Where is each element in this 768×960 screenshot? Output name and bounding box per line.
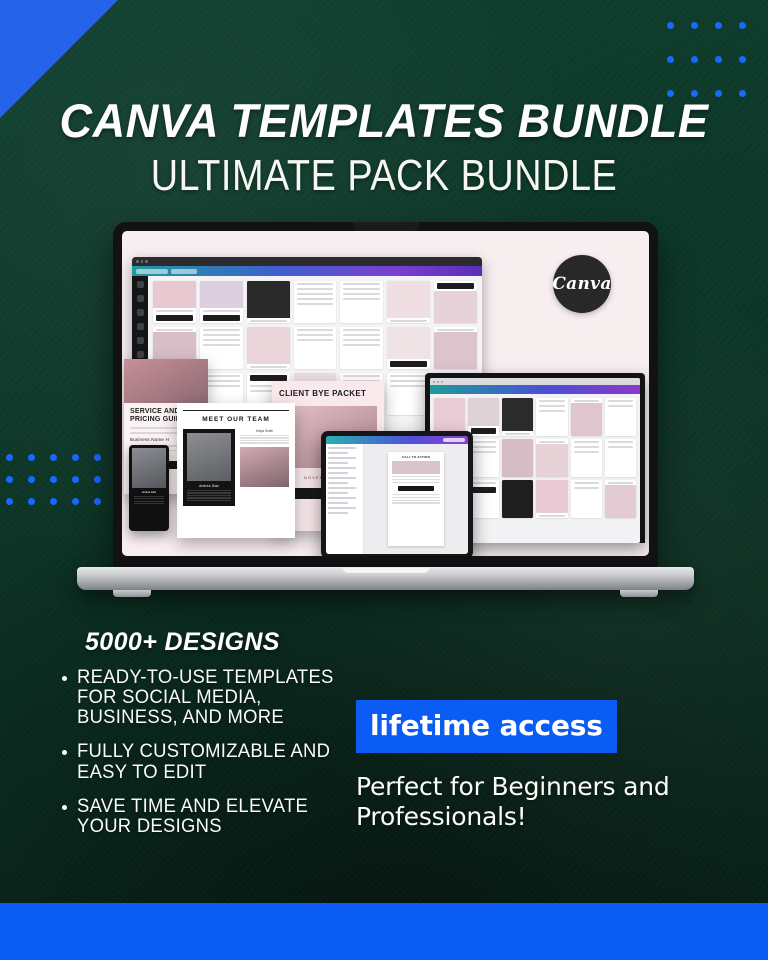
tablet-doc-title: CALL TO ACTION [392, 455, 440, 459]
monitor-toolbar [430, 385, 640, 394]
template-thumb [536, 398, 567, 436]
tablet-document: CALL TO ACTION [388, 452, 444, 546]
template-thumb [605, 480, 636, 518]
template-thumb [502, 398, 533, 436]
phone-photo [132, 448, 166, 488]
tablet-screen: CALL TO ACTION [326, 436, 468, 554]
template-thumb [247, 327, 290, 369]
feature-text: SAVE TIME AND ELEVATE YOUR DESIGNS [77, 797, 344, 837]
template-thumb [387, 373, 430, 415]
title-block: CANVA TEMPLATES BUNDLE ULTIMATE PACK BUN… [0, 96, 768, 200]
team-members-row: Andrea Diaz Katya Smith [183, 429, 289, 506]
poster-canvas: CANVA TEMPLATES BUNDLE ULTIMATE PACK BUN… [0, 0, 768, 960]
template-thumb [200, 281, 243, 323]
template-thumb [434, 327, 477, 369]
laptop-screen: Canva [122, 231, 649, 556]
template-thumb [571, 439, 602, 477]
template-thumb [605, 398, 636, 436]
laptop-mockup: Canva [113, 222, 658, 598]
laptop-base [77, 567, 694, 590]
tablet-doc-image [392, 461, 440, 474]
bullet-icon [62, 676, 67, 681]
tablet-canvas: CALL TO ACTION [364, 444, 468, 554]
monitor-chrome-bar [430, 378, 640, 385]
template-thumb [605, 439, 636, 477]
feature-item: FULLY CUSTOMIZABLE AND EASY TO EDIT [62, 742, 352, 782]
team-flyer-card: MEET OUR TEAM Andrea Diaz Katya Smith [177, 403, 295, 538]
tagline: Perfect for Beginners and Professionals! [356, 772, 696, 831]
bullet-icon [62, 750, 67, 755]
team-member-light: Katya Smith [240, 429, 289, 506]
template-thumb [387, 281, 430, 323]
feature-text: READY-TO-USE TEMPLATES FOR SOCIAL MEDIA,… [77, 668, 344, 728]
template-thumb [571, 398, 602, 436]
template-thumb [247, 281, 290, 323]
canva-logo-text: Canva [552, 274, 611, 294]
browser-chrome-bar [132, 257, 482, 266]
template-thumb [571, 480, 602, 518]
feature-list: READY-TO-USE TEMPLATES FOR SOCIAL MEDIA,… [62, 668, 352, 851]
dot-grid-mid-left [0, 446, 108, 512]
template-thumb [502, 439, 533, 477]
lifetime-access-label: lifetime access [370, 709, 603, 742]
bottom-accent-bar [0, 903, 768, 960]
template-thumb [294, 327, 337, 369]
designs-count: 5000+ DESIGNS [85, 628, 280, 657]
template-thumb [536, 480, 567, 518]
team-card-rule [183, 410, 289, 411]
page-subtitle: ULTIMATE PACK BUNDLE [54, 152, 714, 200]
tablet-doc-button [398, 486, 434, 491]
template-thumb [434, 281, 477, 323]
template-thumb [294, 281, 337, 323]
template-thumb [468, 398, 499, 436]
tablet-sidebar [326, 444, 364, 554]
team-member-name: Andrea Diaz [187, 484, 231, 488]
template-thumb [340, 281, 383, 323]
team-member-photo-2 [240, 447, 289, 487]
template-thumb [387, 327, 430, 369]
feature-text: FULLY CUSTOMIZABLE AND EASY TO EDIT [77, 742, 344, 782]
tablet-toolbar [326, 436, 468, 444]
lifetime-access-badge: lifetime access [356, 700, 617, 753]
template-thumb [502, 480, 533, 518]
page-title: CANVA TEMPLATES BUNDLE [15, 96, 752, 147]
phone-caption: Andrea Diaz [132, 491, 166, 494]
team-member-dark: Andrea Diaz [183, 429, 235, 506]
team-card-title: MEET OUR TEAM [183, 416, 289, 423]
laptop-lid: Canva [113, 222, 658, 567]
canva-toolbar [132, 266, 482, 276]
tablet-mockup: CALL TO ACTION [321, 431, 473, 556]
feature-item: READY-TO-USE TEMPLATES FOR SOCIAL MEDIA,… [62, 668, 352, 728]
team-member-photo [187, 433, 231, 481]
phone-mockup: Andrea Diaz [129, 445, 169, 531]
bullet-icon [62, 805, 67, 810]
template-thumb [340, 327, 383, 369]
guide-photo [124, 359, 208, 403]
feature-item: SAVE TIME AND ELEVATE YOUR DESIGNS [62, 797, 352, 837]
template-thumb [536, 439, 567, 477]
template-thumb [153, 281, 196, 323]
tablet-body: CALL TO ACTION [326, 444, 468, 554]
laptop-feet [77, 590, 694, 598]
team-member-name-2: Katya Smith [240, 429, 289, 433]
canva-logo-icon: Canva [553, 255, 611, 313]
client-card-title: CLIENT BYE PACKET [279, 389, 377, 399]
